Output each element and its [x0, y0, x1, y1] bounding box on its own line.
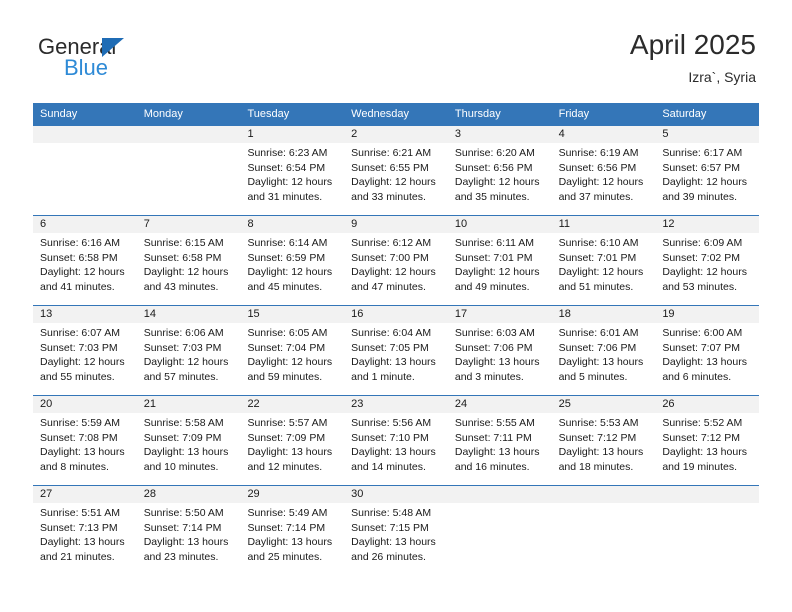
sunset-text: Sunset: 7:01 PM [455, 251, 546, 266]
daylight-text-line2: and 33 minutes. [351, 190, 442, 205]
daylight-text-line1: Daylight: 12 hours [455, 175, 546, 190]
day-cell[interactable]: Sunrise: 6:20 AM Sunset: 6:56 PM Dayligh… [448, 143, 552, 215]
day-detail-band: Sunrise: 5:51 AM Sunset: 7:13 PM Dayligh… [33, 503, 759, 575]
sunset-text: Sunset: 7:00 PM [351, 251, 442, 266]
logo-text-blue: Blue [64, 57, 108, 79]
day-cell[interactable]: Sunrise: 6:17 AM Sunset: 6:57 PM Dayligh… [655, 143, 759, 215]
day-number[interactable]: 3 [448, 126, 552, 143]
daylight-text-line2: and 31 minutes. [247, 190, 338, 205]
day-number[interactable]: 23 [344, 396, 448, 413]
day-number[interactable]: 11 [552, 216, 656, 233]
weekday-header-friday: Friday [552, 103, 656, 125]
day-number[interactable]: 27 [33, 486, 137, 503]
day-number[interactable]: 28 [137, 486, 241, 503]
day-number[interactable]: 26 [655, 396, 759, 413]
sunrise-text: Sunrise: 5:50 AM [144, 506, 235, 521]
daylight-text-line2: and 19 minutes. [662, 460, 753, 475]
daylight-text-line1: Daylight: 13 hours [559, 355, 650, 370]
sunset-text: Sunset: 7:04 PM [247, 341, 338, 356]
day-number[interactable]: 4 [552, 126, 656, 143]
daylight-text-line2: and 43 minutes. [144, 280, 235, 295]
daylight-text-line1: Daylight: 12 hours [40, 355, 131, 370]
day-number[interactable]: 7 [137, 216, 241, 233]
sunrise-text: Sunrise: 6:10 AM [559, 236, 650, 251]
day-cell[interactable]: Sunrise: 6:00 AM Sunset: 7:07 PM Dayligh… [655, 323, 759, 395]
sunset-text: Sunset: 6:59 PM [247, 251, 338, 266]
daylight-text-line2: and 49 minutes. [455, 280, 546, 295]
daylight-text-line1: Daylight: 12 hours [351, 265, 442, 280]
sunset-text: Sunset: 7:15 PM [351, 521, 442, 536]
day-number[interactable]: 15 [240, 306, 344, 323]
sunrise-text: Sunrise: 5:49 AM [247, 506, 338, 521]
daylight-text-line1: Daylight: 13 hours [559, 445, 650, 460]
day-cell[interactable]: Sunrise: 6:10 AM Sunset: 7:01 PM Dayligh… [552, 233, 656, 305]
day-number[interactable] [655, 486, 759, 503]
day-cell[interactable]: Sunrise: 6:11 AM Sunset: 7:01 PM Dayligh… [448, 233, 552, 305]
day-number[interactable]: 5 [655, 126, 759, 143]
weekday-header-thursday: Thursday [448, 103, 552, 125]
sunset-text: Sunset: 7:07 PM [662, 341, 753, 356]
weekday-header-monday: Monday [137, 103, 241, 125]
sunset-text: Sunset: 7:14 PM [247, 521, 338, 536]
daylight-text-line2: and 53 minutes. [662, 280, 753, 295]
sunrise-text: Sunrise: 6:20 AM [455, 146, 546, 161]
sunrise-text: Sunrise: 6:23 AM [247, 146, 338, 161]
sunrise-text: Sunrise: 5:55 AM [455, 416, 546, 431]
daylight-text-line1: Daylight: 13 hours [455, 355, 546, 370]
day-cell[interactable]: Sunrise: 6:21 AM Sunset: 6:55 PM Dayligh… [344, 143, 448, 215]
day-number[interactable]: 21 [137, 396, 241, 413]
daylight-text-line1: Daylight: 13 hours [247, 535, 338, 550]
sunset-text: Sunset: 6:58 PM [40, 251, 131, 266]
daylight-text-line1: Daylight: 12 hours [144, 265, 235, 280]
day-number[interactable]: 30 [344, 486, 448, 503]
day-cell[interactable]: Sunrise: 5:55 AM Sunset: 7:11 PM Dayligh… [448, 413, 552, 485]
day-number[interactable]: 2 [344, 126, 448, 143]
day-cell[interactable]: Sunrise: 6:19 AM Sunset: 6:56 PM Dayligh… [552, 143, 656, 215]
day-cell[interactable]: Sunrise: 5:58 AM Sunset: 7:09 PM Dayligh… [137, 413, 241, 485]
sunset-text: Sunset: 7:09 PM [247, 431, 338, 446]
daylight-text-line1: Daylight: 12 hours [247, 355, 338, 370]
daylight-text-line1: Daylight: 12 hours [144, 355, 235, 370]
daylight-text-line2: and 55 minutes. [40, 370, 131, 385]
sunset-text: Sunset: 6:55 PM [351, 161, 442, 176]
sunset-text: Sunset: 7:02 PM [662, 251, 753, 266]
daylight-text-line2: and 35 minutes. [455, 190, 546, 205]
sunset-text: Sunset: 7:13 PM [40, 521, 131, 536]
general-blue-logo[interactable]: General Blue [38, 36, 238, 86]
day-number[interactable]: 8 [240, 216, 344, 233]
daylight-text-line2: and 37 minutes. [559, 190, 650, 205]
day-number[interactable]: 25 [552, 396, 656, 413]
daylight-text-line1: Daylight: 13 hours [662, 445, 753, 460]
week-row: 20 21 22 23 24 25 26 Sunrise: 5:59 AM Su… [33, 395, 759, 485]
daylight-text-line2: and 59 minutes. [247, 370, 338, 385]
day-number[interactable]: 1 [240, 126, 344, 143]
daylight-text-line1: Daylight: 13 hours [351, 355, 442, 370]
daylight-text-line2: and 10 minutes. [144, 460, 235, 475]
sunset-text: Sunset: 7:09 PM [144, 431, 235, 446]
daylight-text-line1: Daylight: 13 hours [351, 535, 442, 550]
day-cell[interactable]: Sunrise: 5:59 AM Sunset: 7:08 PM Dayligh… [33, 413, 137, 485]
day-number[interactable]: 10 [448, 216, 552, 233]
day-cell[interactable]: Sunrise: 6:12 AM Sunset: 7:00 PM Dayligh… [344, 233, 448, 305]
page-subtitle-location: Izra`, Syria [630, 68, 756, 86]
day-detail-band: Sunrise: 6:07 AM Sunset: 7:03 PM Dayligh… [33, 323, 759, 395]
sunrise-text: Sunrise: 6:21 AM [351, 146, 442, 161]
day-detail-band: Sunrise: 6:16 AM Sunset: 6:58 PM Dayligh… [33, 233, 759, 305]
weekday-header-tuesday: Tuesday [240, 103, 344, 125]
day-number-band: 27 28 29 30 [33, 486, 759, 503]
daylight-text-line1: Daylight: 13 hours [455, 445, 546, 460]
daylight-text-line2: and 39 minutes. [662, 190, 753, 205]
daylight-text-line1: Daylight: 12 hours [247, 175, 338, 190]
sunrise-text: Sunrise: 6:17 AM [662, 146, 753, 161]
day-number[interactable] [33, 126, 137, 143]
sunrise-sunset-calendar: Sunday Monday Tuesday Wednesday Thursday… [33, 103, 759, 575]
sunrise-text: Sunrise: 6:16 AM [40, 236, 131, 251]
day-cell[interactable] [137, 143, 241, 215]
daylight-text-line2: and 6 minutes. [662, 370, 753, 385]
page-header: General Blue April 2025 Izra`, Syria [0, 0, 792, 96]
daylight-text-line2: and 45 minutes. [247, 280, 338, 295]
weekday-header-row: Sunday Monday Tuesday Wednesday Thursday… [33, 103, 759, 125]
sunrise-text: Sunrise: 5:58 AM [144, 416, 235, 431]
day-cell[interactable]: Sunrise: 5:48 AM Sunset: 7:15 PM Dayligh… [344, 503, 448, 575]
day-cell[interactable]: Sunrise: 6:16 AM Sunset: 6:58 PM Dayligh… [33, 233, 137, 305]
daylight-text-line1: Daylight: 12 hours [662, 175, 753, 190]
sunset-text: Sunset: 7:11 PM [455, 431, 546, 446]
daylight-text-line2: and 14 minutes. [351, 460, 442, 475]
day-cell[interactable]: Sunrise: 6:04 AM Sunset: 7:05 PM Dayligh… [344, 323, 448, 395]
day-cell[interactable]: Sunrise: 6:07 AM Sunset: 7:03 PM Dayligh… [33, 323, 137, 395]
day-number[interactable]: 13 [33, 306, 137, 323]
day-cell[interactable]: Sunrise: 6:06 AM Sunset: 7:03 PM Dayligh… [137, 323, 241, 395]
day-cell[interactable] [552, 503, 656, 575]
daylight-text-line2: and 51 minutes. [559, 280, 650, 295]
title-block: April 2025 Izra`, Syria [630, 28, 756, 86]
sunset-text: Sunset: 7:06 PM [455, 341, 546, 356]
daylight-text-line2: and 12 minutes. [247, 460, 338, 475]
daylight-text-line1: Daylight: 12 hours [455, 265, 546, 280]
daylight-text-line2: and 3 minutes. [455, 370, 546, 385]
day-cell[interactable]: Sunrise: 5:53 AM Sunset: 7:12 PM Dayligh… [552, 413, 656, 485]
day-number[interactable]: 19 [655, 306, 759, 323]
sunrise-text: Sunrise: 5:51 AM [40, 506, 131, 521]
daylight-text-line2: and 1 minute. [351, 370, 442, 385]
day-number[interactable]: 16 [344, 306, 448, 323]
sunset-text: Sunset: 7:12 PM [559, 431, 650, 446]
sunset-text: Sunset: 6:57 PM [662, 161, 753, 176]
day-number-band: 20 21 22 23 24 25 26 [33, 396, 759, 413]
sunset-text: Sunset: 6:58 PM [144, 251, 235, 266]
sunset-text: Sunset: 7:10 PM [351, 431, 442, 446]
sunset-text: Sunset: 7:14 PM [144, 521, 235, 536]
sunrise-text: Sunrise: 6:06 AM [144, 326, 235, 341]
week-row: 6 7 8 9 10 11 12 Sunrise: 6:16 AM Sunset… [33, 215, 759, 305]
daylight-text-line2: and 25 minutes. [247, 550, 338, 565]
daylight-text-line1: Daylight: 12 hours [247, 265, 338, 280]
daylight-text-line2: and 8 minutes. [40, 460, 131, 475]
day-cell[interactable] [33, 143, 137, 215]
sunrise-text: Sunrise: 6:14 AM [247, 236, 338, 251]
sunset-text: Sunset: 7:06 PM [559, 341, 650, 356]
day-cell[interactable]: Sunrise: 6:15 AM Sunset: 6:58 PM Dayligh… [137, 233, 241, 305]
page-title: April 2025 [630, 28, 756, 62]
daylight-text-line1: Daylight: 13 hours [40, 445, 131, 460]
sunrise-text: Sunrise: 6:15 AM [144, 236, 235, 251]
week-row: 1 2 3 4 5 Sunrise: 6:23 AM Sunset: 6:54 … [33, 125, 759, 215]
day-number[interactable] [137, 126, 241, 143]
weekday-header-wednesday: Wednesday [344, 103, 448, 125]
daylight-text-line1: Daylight: 12 hours [559, 175, 650, 190]
day-number[interactable]: 14 [137, 306, 241, 323]
weekday-header-sunday: Sunday [33, 103, 137, 125]
daylight-text-line1: Daylight: 12 hours [662, 265, 753, 280]
sunset-text: Sunset: 7:05 PM [351, 341, 442, 356]
day-cell[interactable]: Sunrise: 5:50 AM Sunset: 7:14 PM Dayligh… [137, 503, 241, 575]
day-number[interactable]: 9 [344, 216, 448, 233]
daylight-text-line2: and 5 minutes. [559, 370, 650, 385]
sunrise-text: Sunrise: 5:59 AM [40, 416, 131, 431]
day-cell[interactable]: Sunrise: 6:03 AM Sunset: 7:06 PM Dayligh… [448, 323, 552, 395]
day-number[interactable] [552, 486, 656, 503]
daylight-text-line2: and 57 minutes. [144, 370, 235, 385]
daylight-text-line1: Daylight: 13 hours [144, 535, 235, 550]
sunrise-text: Sunrise: 6:04 AM [351, 326, 442, 341]
week-row: 13 14 15 16 17 18 19 Sunrise: 6:07 AM Su… [33, 305, 759, 395]
sunset-text: Sunset: 6:56 PM [455, 161, 546, 176]
day-cell[interactable]: Sunrise: 5:51 AM Sunset: 7:13 PM Dayligh… [33, 503, 137, 575]
day-cell[interactable]: Sunrise: 6:14 AM Sunset: 6:59 PM Dayligh… [240, 233, 344, 305]
sunset-text: Sunset: 6:54 PM [247, 161, 338, 176]
sunset-text: Sunset: 7:12 PM [662, 431, 753, 446]
day-number[interactable]: 20 [33, 396, 137, 413]
sunrise-text: Sunrise: 6:12 AM [351, 236, 442, 251]
day-number[interactable]: 17 [448, 306, 552, 323]
sunrise-text: Sunrise: 6:19 AM [559, 146, 650, 161]
daylight-text-line1: Daylight: 13 hours [40, 535, 131, 550]
sunrise-text: Sunrise: 6:09 AM [662, 236, 753, 251]
day-number[interactable]: 22 [240, 396, 344, 413]
day-cell[interactable]: Sunrise: 6:05 AM Sunset: 7:04 PM Dayligh… [240, 323, 344, 395]
sunset-text: Sunset: 7:08 PM [40, 431, 131, 446]
sunrise-text: Sunrise: 5:52 AM [662, 416, 753, 431]
sunrise-text: Sunrise: 5:57 AM [247, 416, 338, 431]
day-cell[interactable]: Sunrise: 5:56 AM Sunset: 7:10 PM Dayligh… [344, 413, 448, 485]
daylight-text-line2: and 23 minutes. [144, 550, 235, 565]
weekday-header-saturday: Saturday [655, 103, 759, 125]
day-number[interactable]: 29 [240, 486, 344, 503]
daylight-text-line2: and 47 minutes. [351, 280, 442, 295]
sunrise-text: Sunrise: 6:00 AM [662, 326, 753, 341]
daylight-text-line1: Daylight: 12 hours [351, 175, 442, 190]
week-row: 27 28 29 30 Sunrise: 5:51 AM Sunset: 7:1… [33, 485, 759, 575]
sunrise-text: Sunrise: 6:03 AM [455, 326, 546, 341]
day-detail-band: Sunrise: 6:23 AM Sunset: 6:54 PM Dayligh… [33, 143, 759, 215]
day-number[interactable] [448, 486, 552, 503]
day-cell[interactable]: Sunrise: 5:52 AM Sunset: 7:12 PM Dayligh… [655, 413, 759, 485]
sunrise-text: Sunrise: 5:48 AM [351, 506, 442, 521]
sunset-text: Sunset: 6:56 PM [559, 161, 650, 176]
daylight-text-line2: and 21 minutes. [40, 550, 131, 565]
day-number-band: 1 2 3 4 5 [33, 126, 759, 143]
sunset-text: Sunset: 7:03 PM [144, 341, 235, 356]
daylight-text-line1: Daylight: 13 hours [351, 445, 442, 460]
daylight-text-line2: and 18 minutes. [559, 460, 650, 475]
daylight-text-line1: Daylight: 13 hours [247, 445, 338, 460]
sunrise-text: Sunrise: 5:56 AM [351, 416, 442, 431]
day-cell[interactable] [655, 503, 759, 575]
day-cell[interactable]: Sunrise: 5:57 AM Sunset: 7:09 PM Dayligh… [240, 413, 344, 485]
day-number-band: 6 7 8 9 10 11 12 [33, 216, 759, 233]
day-cell[interactable]: Sunrise: 6:23 AM Sunset: 6:54 PM Dayligh… [240, 143, 344, 215]
day-detail-band: Sunrise: 5:59 AM Sunset: 7:08 PM Dayligh… [33, 413, 759, 485]
sunset-text: Sunset: 7:01 PM [559, 251, 650, 266]
day-number-band: 13 14 15 16 17 18 19 [33, 306, 759, 323]
daylight-text-line1: Daylight: 12 hours [559, 265, 650, 280]
day-number[interactable]: 6 [33, 216, 137, 233]
daylight-text-line2: and 41 minutes. [40, 280, 131, 295]
daylight-text-line1: Daylight: 13 hours [144, 445, 235, 460]
day-cell[interactable]: Sunrise: 6:01 AM Sunset: 7:06 PM Dayligh… [552, 323, 656, 395]
sunset-text: Sunset: 7:03 PM [40, 341, 131, 356]
sunrise-text: Sunrise: 6:11 AM [455, 236, 546, 251]
daylight-text-line2: and 16 minutes. [455, 460, 546, 475]
day-number[interactable]: 18 [552, 306, 656, 323]
day-number[interactable]: 24 [448, 396, 552, 413]
sunrise-text: Sunrise: 6:01 AM [559, 326, 650, 341]
daylight-text-line1: Daylight: 13 hours [662, 355, 753, 370]
sunrise-text: Sunrise: 6:05 AM [247, 326, 338, 341]
day-cell[interactable]: Sunrise: 6:09 AM Sunset: 7:02 PM Dayligh… [655, 233, 759, 305]
day-cell[interactable]: Sunrise: 5:49 AM Sunset: 7:14 PM Dayligh… [240, 503, 344, 575]
sunrise-text: Sunrise: 5:53 AM [559, 416, 650, 431]
day-cell[interactable] [448, 503, 552, 575]
daylight-text-line2: and 26 minutes. [351, 550, 442, 565]
day-number[interactable]: 12 [655, 216, 759, 233]
sunrise-text: Sunrise: 6:07 AM [40, 326, 131, 341]
daylight-text-line1: Daylight: 12 hours [40, 265, 131, 280]
